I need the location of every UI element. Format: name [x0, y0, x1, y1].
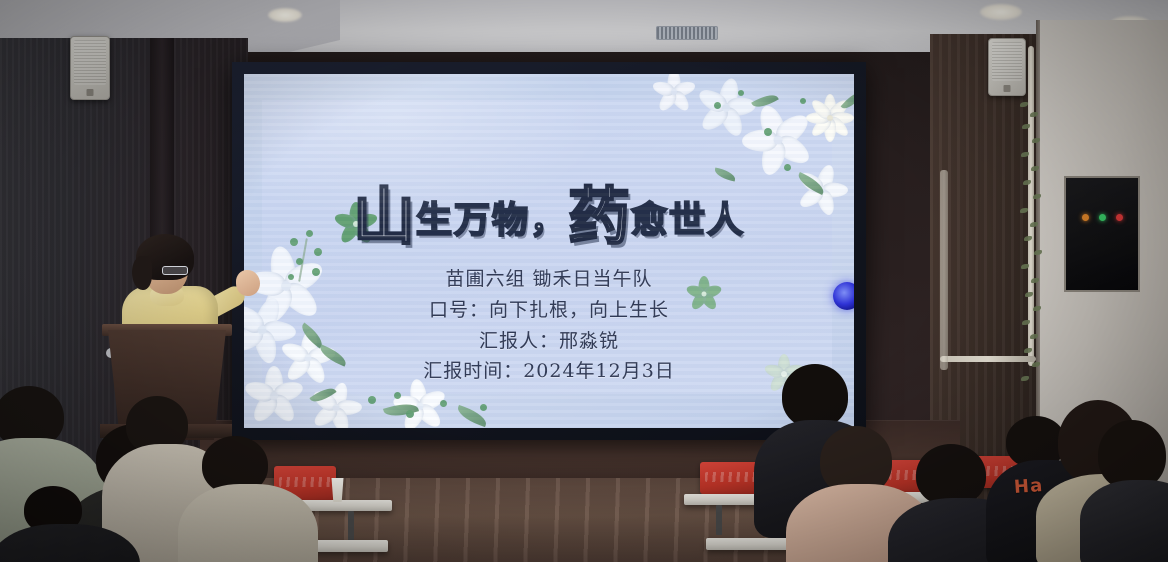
speaker-grille-icon	[74, 40, 106, 85]
title-char-shan: 山	[353, 180, 416, 253]
title-segment-1: 生万物，	[416, 200, 568, 241]
berry-decoration	[368, 396, 376, 404]
speaker-badge	[87, 89, 94, 96]
berry-decoration	[394, 392, 401, 399]
audience-body	[178, 484, 318, 562]
speaker-grille-icon	[992, 42, 1022, 81]
berry-decoration	[738, 90, 744, 96]
slide-body-lines: 苗圃六组 锄禾日当午队 口号：向下扎根，向上生长 汇报人：邢淼锐 汇报时间：20…	[244, 264, 854, 387]
speaker-badge	[1004, 85, 1011, 92]
projection-screen: 山生万物，药愈世人 苗圃六组 锄禾日当午队 口号：向下扎根，向上生长 汇报人：邢…	[244, 74, 854, 428]
audience-head	[782, 364, 848, 428]
air-vent-icon	[656, 26, 718, 40]
berry-decoration	[800, 98, 806, 104]
projector-indicator-icon	[833, 282, 854, 310]
wall-speaker-left	[70, 36, 110, 100]
presenter-hair-side	[132, 256, 152, 290]
led-red-icon	[1116, 214, 1123, 221]
slide-line-date: 汇报时间：2024年12月3日	[244, 356, 854, 387]
jacket-logo-text: Ha	[1013, 475, 1044, 498]
desk	[300, 500, 392, 511]
led-green-icon	[1099, 214, 1106, 221]
berry-decoration	[406, 410, 414, 418]
ceiling-light	[980, 4, 1022, 20]
wall-pipe-secondary	[940, 170, 948, 370]
projection-screen-frame: 山生万物，药愈世人 苗圃六组 锄禾日当午队 口号：向下扎根，向上生长 汇报人：邢…	[232, 62, 866, 440]
chair-back	[700, 462, 760, 494]
led-orange-icon	[1082, 214, 1089, 221]
title-char-yao: 药	[568, 180, 631, 253]
berry-decoration	[480, 404, 487, 411]
ceiling-light	[268, 8, 302, 22]
lecture-hall-scene: 山生万物，药愈世人 苗圃六组 锄禾日当午队 口号：向下扎根，向上生长 汇报人：邢…	[0, 0, 1168, 562]
berry-decoration	[714, 102, 721, 109]
berry-decoration	[764, 128, 772, 136]
control-panel[interactable]	[1064, 176, 1140, 292]
climbing-plant	[1018, 96, 1044, 396]
desk-leg	[716, 505, 722, 535]
slide-line-slogan: 口号：向下扎根，向上生长	[244, 295, 854, 326]
audience-head	[916, 444, 986, 506]
slide-line-presenter: 汇报人：邢淼锐	[244, 326, 854, 357]
berry-decoration	[440, 400, 447, 407]
glasses-icon	[162, 266, 188, 275]
slide-title: 山生万物，药愈世人	[244, 166, 854, 256]
audience-body	[1080, 480, 1168, 562]
wall-speaker-right	[988, 38, 1026, 96]
title-segment-2: 愈世人	[631, 200, 745, 241]
presenter-hand	[236, 270, 260, 296]
slide-line-group: 苗圃六组 锄禾日当午队	[244, 264, 854, 295]
